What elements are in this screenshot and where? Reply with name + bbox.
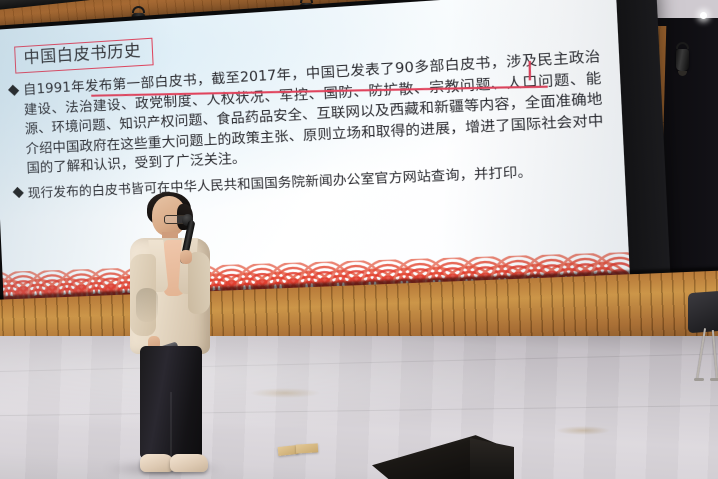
stage-floor <box>0 336 718 479</box>
sleeve-fold <box>136 288 158 322</box>
slide-bullet-list: 自1991年发布第一部白皮书，截至2017年，中国已发表了90多部白皮书，涉及民… <box>10 47 606 203</box>
shoe-right <box>170 454 208 472</box>
shoe-left <box>140 454 174 472</box>
slide-title: 中国白皮书历史 <box>23 40 141 67</box>
speaker <box>118 196 222 479</box>
stage-spotlight <box>676 42 689 76</box>
chair-foot <box>694 378 704 381</box>
diamond-bullet-icon <box>13 186 24 197</box>
chair-foot <box>710 378 718 381</box>
paper-card-right <box>296 443 318 453</box>
diamond-bullet-icon <box>8 85 19 96</box>
lecture-hall-photo: 中国白皮书历史 自1991年发布第一部白皮书，截至2017年，中国已发表了90多… <box>0 0 718 479</box>
title-accent-tick <box>529 61 531 80</box>
presentation-slide: 中国白皮书历史 自1991年发布第一部白皮书，截至2017年，中国已发表了90多… <box>0 0 631 316</box>
slide-title-box: 中国白皮书历史 <box>14 38 153 74</box>
trouser-seam <box>170 392 172 458</box>
chair <box>688 291 718 333</box>
hand-right <box>180 250 192 264</box>
ceiling-downlight <box>700 12 707 19</box>
